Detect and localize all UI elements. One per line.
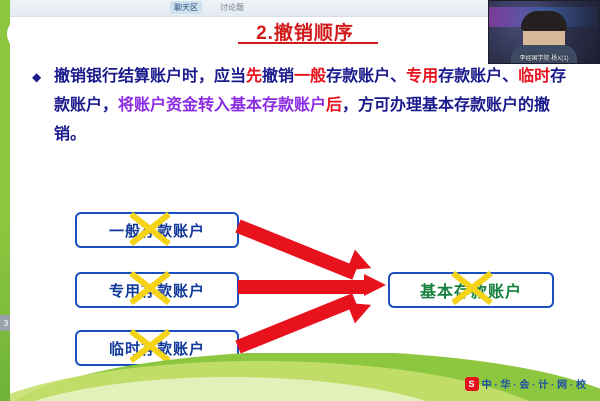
- box-special-deposit-account[interactable]: 专用存款账户: [75, 272, 239, 308]
- tab-discussion[interactable]: 讨论题: [216, 1, 248, 14]
- arrow-general-to-basic: [238, 215, 388, 275]
- paragraph-run-2: 撤销: [262, 68, 294, 85]
- paragraph-run-3: 一般: [294, 68, 326, 85]
- arrow-temporary-to-basic: [238, 300, 388, 360]
- webcam-caption: 李经国学院·杨X(1): [491, 53, 597, 62]
- tab-chat[interactable]: 聊天区: [170, 1, 202, 14]
- body-paragraph: 撤销银行结算账户时，应当先撤销一般存款账户、专用存款账户、临时存款账户，将账户资…: [32, 62, 577, 149]
- box-general-deposit-account[interactable]: 一般存款账户: [75, 212, 239, 248]
- paragraph-run-6: 存款账户、: [438, 68, 518, 85]
- paragraph-run-9: 将账户资金转入基本存款账户: [118, 97, 326, 114]
- paragraph-run-1: 先: [246, 68, 262, 85]
- title-underline: [238, 42, 378, 44]
- footer-logo: S 中 · 华 · 会 · 计 · 网 · 校: [465, 376, 586, 391]
- page-title: 2.撤销顺序: [10, 18, 600, 45]
- paragraph-runs: 撤销银行结算账户时，应当先撤销一般存款账户、专用存款账户、临时存款账户，将账户资…: [32, 62, 577, 149]
- slide-canvas: 聊天区 讨论题 李经国学院·杨X(1) 2.撤销顺序 ◆ 撤销银行结算账户时，应…: [10, 0, 600, 401]
- paragraph-run-10: 后: [326, 97, 342, 114]
- paragraph-run-7: 临时: [518, 68, 550, 85]
- logo-mark-icon: S: [465, 377, 479, 391]
- logo-text: 中 · 华 · 会 · 计 · 网 · 校: [482, 376, 586, 391]
- paragraph-run-4: 存款账户、: [326, 68, 406, 85]
- box-basic-deposit-account[interactable]: 基本存款账户: [388, 272, 554, 308]
- paragraph-run-0: 撤销银行结算账户时，应当: [54, 68, 246, 85]
- toolbar-tabs: 聊天区 讨论题: [170, 1, 248, 14]
- paragraph-run-5: 专用: [406, 68, 438, 85]
- left-edge-strip: [0, 0, 10, 401]
